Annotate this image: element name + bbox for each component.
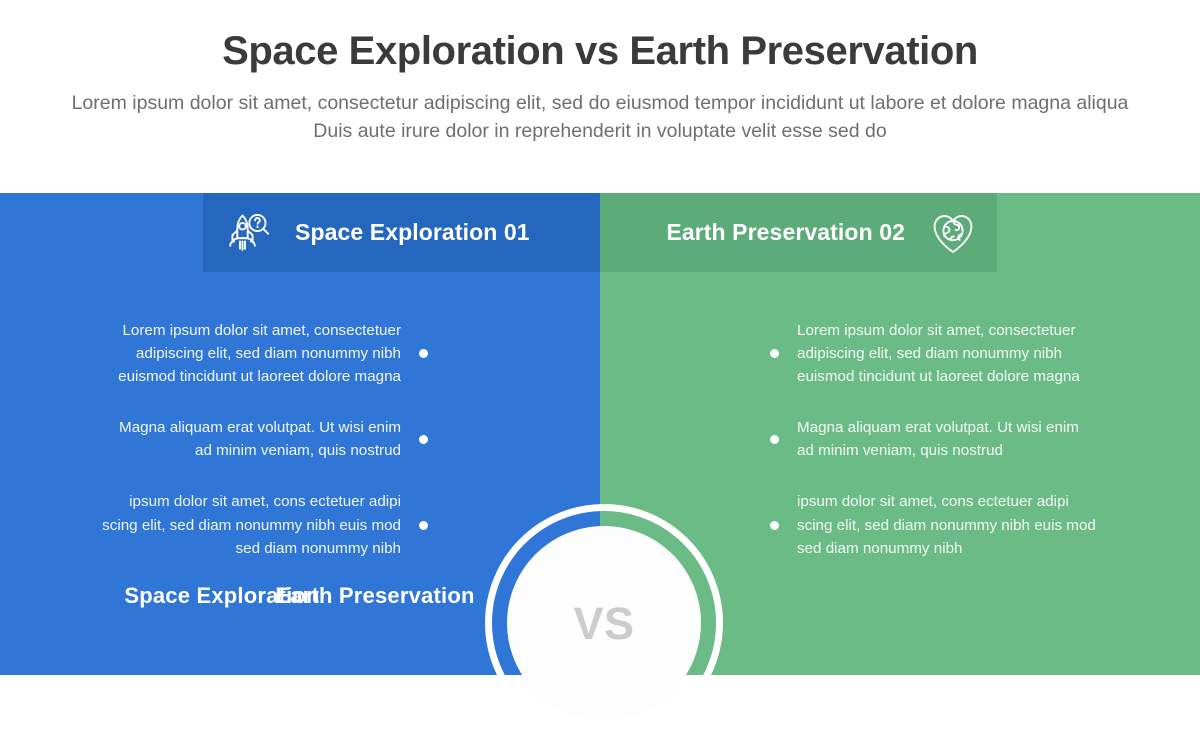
list-item: Lorem ipsum dolor sit amet, consectetuer…	[98, 319, 428, 388]
left-bullet-text-2: Magna aliquam erat volutpat. Ut wisi eni…	[98, 416, 401, 462]
left-bullet-text-3: ipsum dolor sit amet, cons ectetuer adip…	[98, 490, 401, 559]
infographic-slide: Space Exploration vs Earth Preservation …	[0, 0, 1200, 675]
right-badge-label: Earth Preservation 02	[666, 219, 905, 246]
right-bullet-text-3: ipsum dolor sit amet, cons ectetuer adip…	[797, 490, 1100, 559]
rocket-search-icon	[221, 207, 273, 259]
bullet-dot-icon	[419, 349, 428, 358]
list-item: Lorem ipsum dolor sit amet, consectetuer…	[770, 319, 1100, 388]
list-item: Magna aliquam erat volutpat. Ut wisi eni…	[770, 416, 1100, 462]
comparison-panels: Space Exploration 01 Earth Preservation …	[0, 193, 1200, 675]
page-title: Space Exploration vs Earth Preservation	[58, 0, 1142, 75]
slide-header: Space Exploration vs Earth Preservation …	[0, 0, 1200, 193]
left-badge-header[interactable]: Space Exploration 01	[203, 193, 600, 272]
bullet-dot-icon	[770, 435, 779, 444]
right-badge-header[interactable]: Earth Preservation 02	[600, 193, 997, 272]
left-bullet-list: Lorem ipsum dolor sit amet, consectetuer…	[98, 319, 428, 588]
page-subtitle: Lorem ipsum dolor sit amet, consectetur …	[58, 75, 1142, 146]
bullet-dot-icon	[770, 349, 779, 358]
bullet-dot-icon	[419, 435, 428, 444]
list-item: ipsum dolor sit amet, cons ectetuer adip…	[770, 490, 1100, 559]
vs-badge: VS	[485, 504, 723, 742]
earth-heart-icon	[927, 207, 979, 259]
right-bullet-text-1: Lorem ipsum dolor sit amet, consectetuer…	[797, 319, 1100, 388]
bullet-dot-icon	[770, 521, 779, 530]
left-bullet-text-1: Lorem ipsum dolor sit amet, consectetuer…	[98, 319, 401, 388]
right-bullet-text-2: Magna aliquam erat volutpat. Ut wisi eni…	[797, 416, 1100, 462]
vs-label: VS	[573, 601, 634, 646]
list-item: Magna aliquam erat volutpat. Ut wisi eni…	[98, 416, 428, 462]
left-badge-label: Space Exploration 01	[295, 219, 530, 246]
right-bullet-list: Lorem ipsum dolor sit amet, consectetuer…	[770, 319, 1100, 588]
list-item: ipsum dolor sit amet, cons ectetuer adip…	[98, 490, 428, 559]
vs-inner-disc: VS	[507, 526, 701, 720]
bullet-dot-icon	[419, 521, 428, 530]
